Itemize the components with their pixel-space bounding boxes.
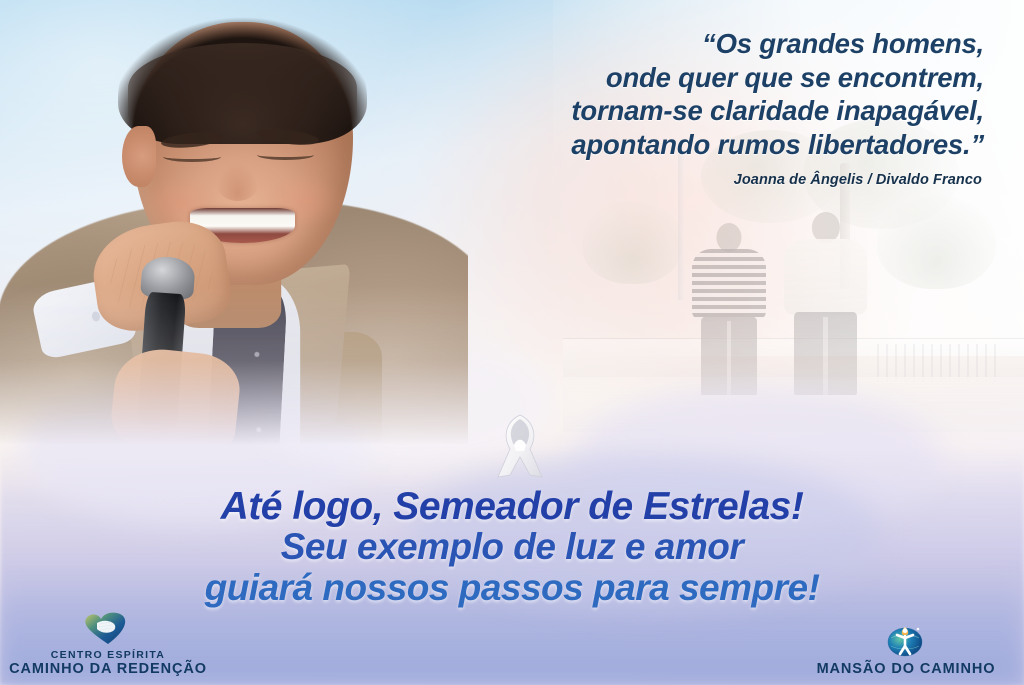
logo-left-line-1: CENTRO ESPÍRITA [8, 649, 208, 661]
ear [122, 126, 156, 187]
smiling-mouth [190, 208, 296, 243]
eyebrow [256, 127, 320, 149]
palm-tree-icon [582, 201, 683, 283]
logo-mansao-do-caminho: MANSÃO DO CAMINHO [796, 618, 1016, 677]
eye-closed [163, 151, 221, 161]
logo-right-line-1: MANSÃO DO CAMINHO [796, 661, 1016, 677]
eye-closed [257, 150, 315, 160]
message-line-2: Seu exemplo de luz e amor [0, 527, 1024, 567]
message-line-1: Até logo, Semeador de Estrelas! [0, 486, 1024, 527]
memorial-poster: “Os grandes homens, onde quer que se enc… [0, 0, 1024, 685]
globe-figure-logo-icon [882, 618, 930, 658]
nose [216, 163, 259, 201]
eyebrow [160, 129, 224, 150]
mourning-ribbon-icon [480, 405, 560, 485]
logo-centro-espirita: CENTRO ESPÍRITA CAMINHO DA REDENÇÃO [8, 610, 208, 677]
heart-hands-logo-icon [80, 610, 136, 646]
quote-text: “Os grandes homens, onde quer que se enc… [364, 27, 984, 161]
palm-tree-icon [877, 196, 997, 289]
hand [108, 345, 243, 461]
light-pole-icon [678, 147, 684, 300]
face [132, 22, 353, 285]
neck [175, 243, 281, 328]
quote-line-3: tornam-se claridade inapagável, [364, 94, 984, 128]
cheek [266, 175, 343, 227]
main-message: Até logo, Semeador de Estrelas! Seu exem… [0, 486, 1024, 608]
cheek [142, 177, 219, 229]
hair [118, 3, 368, 144]
quote-line-4: apontando rumos libertadores.” [364, 128, 984, 162]
suit-lapel [259, 264, 351, 430]
quote-line-1: “Os grandes homens, [364, 27, 984, 61]
quote-line-2: onde quer que se encontrem, [364, 61, 984, 95]
suit-lapel [123, 263, 218, 430]
shirt-cuff [30, 276, 138, 360]
quote-attribution: Joanna de Ângelis / Divaldo Franco [362, 172, 982, 188]
message-line-3: guiará nossos passos para sempre! [0, 567, 1024, 608]
microphone-icon [131, 256, 195, 428]
logo-left-line-2: CAMINHO DA REDENÇÃO [8, 661, 208, 677]
hand [87, 215, 234, 336]
